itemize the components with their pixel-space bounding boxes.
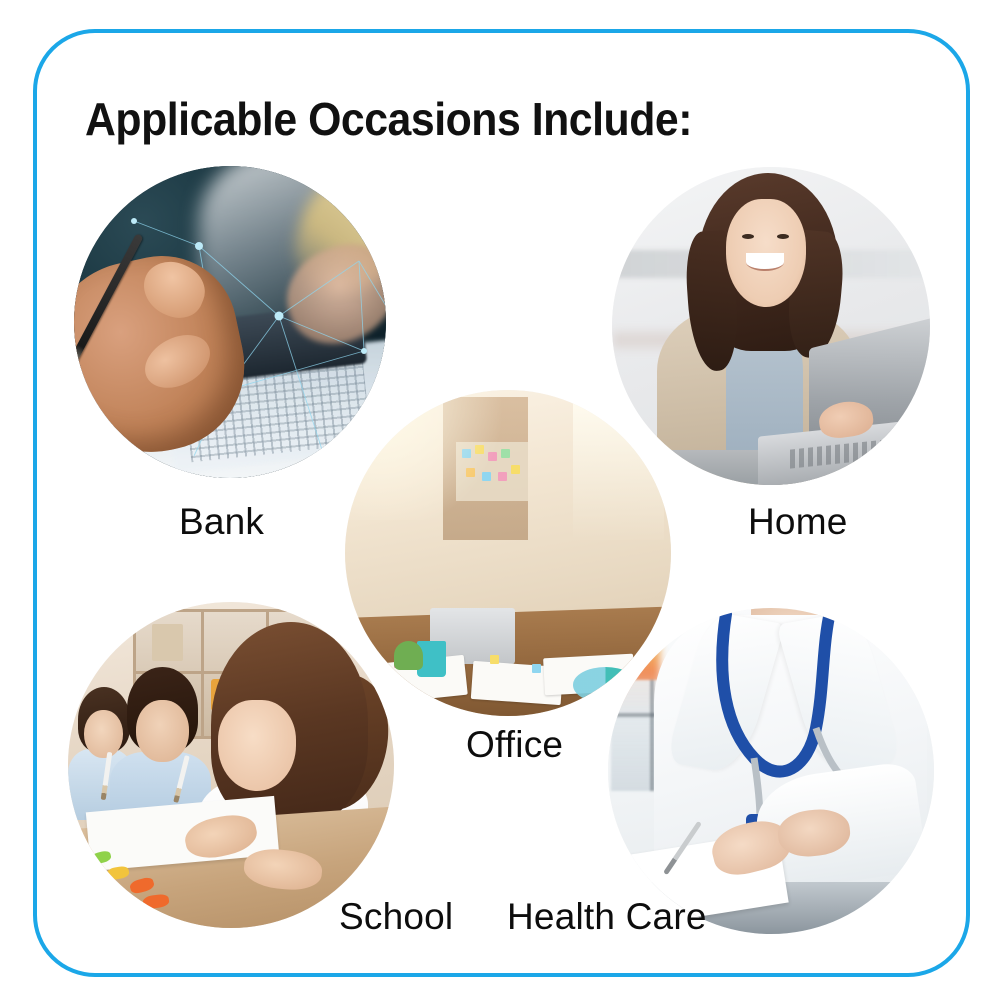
office-window — [573, 403, 664, 540]
label-home: Home — [748, 501, 848, 543]
label-bank: Bank — [179, 501, 264, 543]
school-girl-face — [218, 700, 296, 791]
health-care-photo — [608, 608, 934, 934]
label-office: Office — [466, 724, 563, 766]
page-title: Applicable Occasions Include: — [85, 94, 692, 144]
bank-photo — [74, 166, 386, 478]
office-sunlight — [345, 390, 515, 520]
home-smile — [746, 253, 784, 271]
school-boy-face — [136, 700, 188, 762]
promo-banner: Applicable Occasions Include: — [0, 0, 1000, 1000]
school-photo — [68, 602, 394, 928]
home-eye-right — [777, 234, 789, 239]
home-eye-left — [742, 234, 754, 239]
label-school: School — [339, 896, 453, 938]
label-health-care: Health Care — [507, 896, 707, 938]
office-plant — [394, 641, 423, 670]
